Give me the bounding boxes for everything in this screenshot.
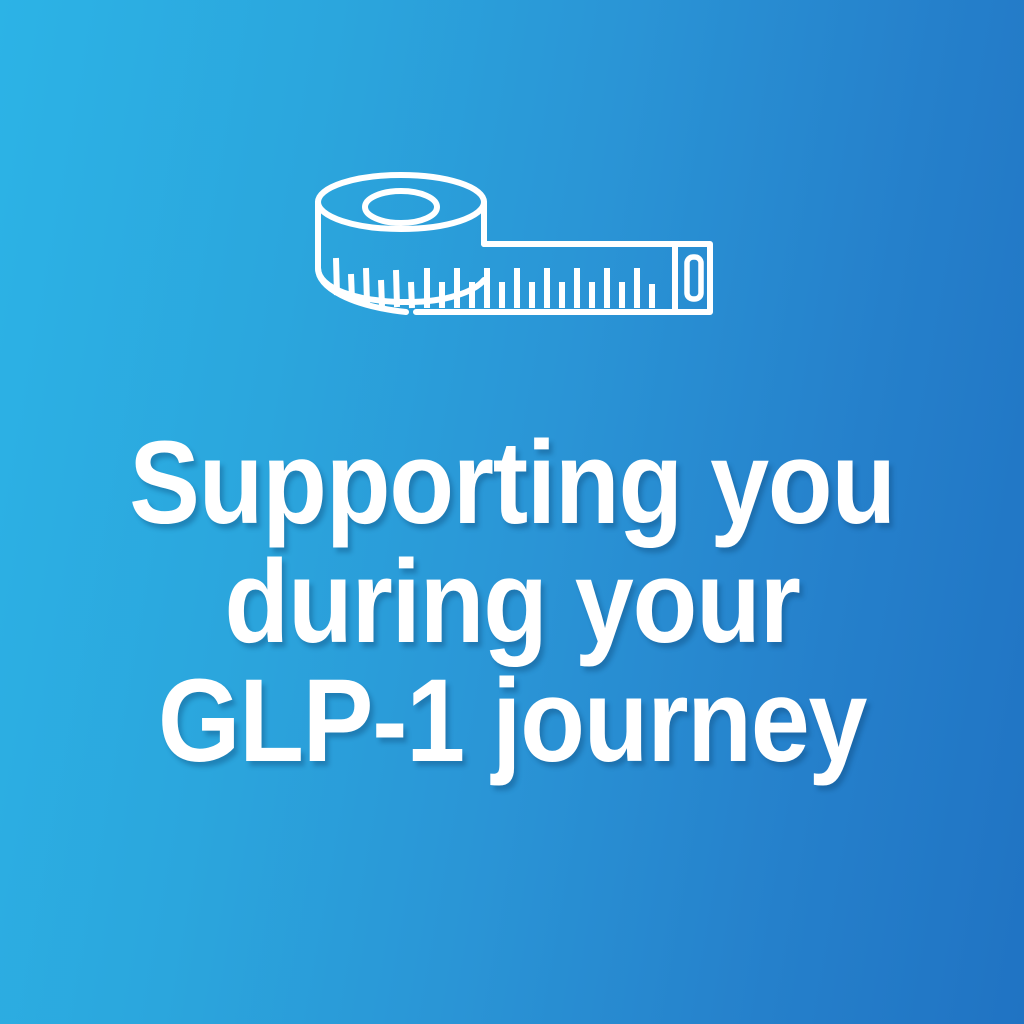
- headline-line-2: during your: [51, 543, 973, 662]
- tape-tick-marks: [336, 258, 652, 308]
- headline-line-1: Supporting you: [51, 424, 973, 543]
- tape-roll-hub-ellipse: [365, 191, 437, 223]
- tape-end-clip: [687, 257, 701, 299]
- measuring-tape-icon: [296, 170, 732, 330]
- promo-graphic: Supporting you during your GLP-1 journey: [0, 0, 1024, 1024]
- headline: Supporting you during your GLP-1 journey: [51, 424, 973, 781]
- headline-line-3: GLP-1 journey: [51, 662, 973, 781]
